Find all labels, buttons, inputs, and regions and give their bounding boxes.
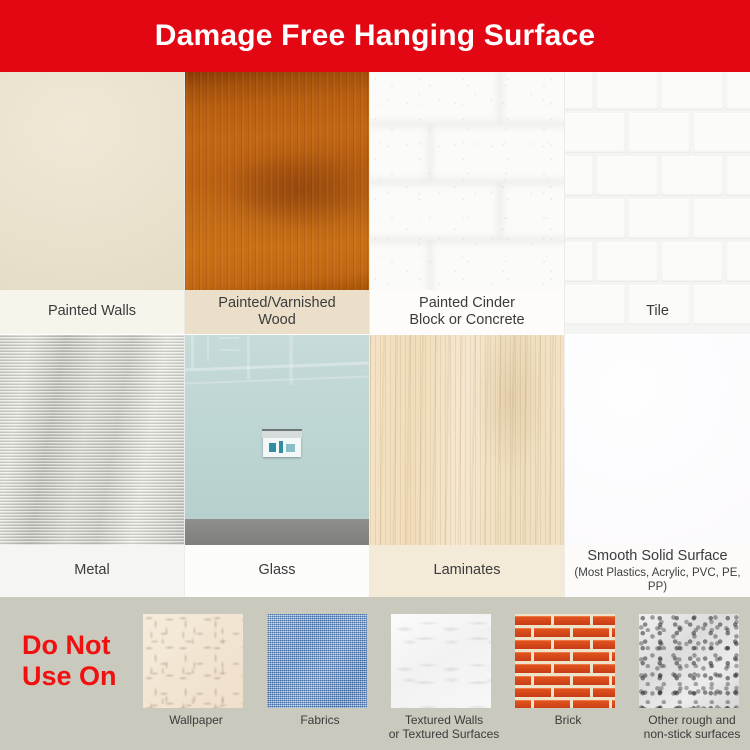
surface-label-glass: Glass bbox=[185, 545, 369, 597]
painted-wall-texture bbox=[0, 72, 184, 290]
infographic-root: Damage Free Hanging Surface Painted Wall… bbox=[0, 0, 750, 750]
surface-label-metal: Metal bbox=[0, 545, 184, 597]
surface-label-laminates: Laminates bbox=[370, 545, 564, 597]
surface-label-painted-walls: Painted Walls bbox=[0, 290, 184, 334]
label-subtext: (Most Plastics, Acrylic, PVC, PE, PP) bbox=[565, 567, 750, 594]
do-not-use-label-wallpaper: Wallpaper bbox=[125, 713, 267, 727]
label-text-line1: Painted/Varnished bbox=[218, 295, 335, 312]
label-text-line2: or Textured Surfaces bbox=[373, 727, 515, 741]
do-not-use-band: Do Not Use On Wallpaper Fabrics Textured… bbox=[0, 597, 750, 750]
do-not-use-label-brick: Brick bbox=[497, 713, 639, 727]
label-text-line1: Other rough and bbox=[621, 713, 750, 727]
approved-surfaces-grid: Painted Walls Painted/Varnished Wood bbox=[0, 72, 750, 597]
do-not-use-label-rough-surfaces: Other rough and non-stick surfaces bbox=[621, 713, 750, 742]
rough-surface-texture bbox=[639, 614, 739, 708]
do-not-use-title: Do Not Use On bbox=[22, 630, 162, 693]
brushed-metal-texture bbox=[0, 335, 184, 545]
oak-laminate-texture bbox=[370, 335, 564, 545]
page-title: Damage Free Hanging Surface bbox=[155, 19, 596, 53]
smooth-solid-texture bbox=[565, 335, 750, 545]
surface-label-cinder-block: Painted Cinder Block or Concrete bbox=[370, 290, 564, 334]
label-text-line1: Wallpaper bbox=[125, 713, 267, 727]
label-text-line1: Brick bbox=[497, 713, 639, 727]
label-text: Metal bbox=[74, 562, 109, 579]
cinder-block-texture bbox=[370, 72, 564, 290]
surface-cell-metal: Metal bbox=[0, 335, 184, 597]
label-text-line1: Textured Walls bbox=[373, 713, 515, 727]
glass-panel-texture bbox=[185, 335, 369, 545]
label-text-line1: Fabrics bbox=[249, 713, 391, 727]
textured-wall-texture bbox=[391, 614, 491, 708]
surface-cell-tile: Tile bbox=[565, 72, 750, 334]
surface-cell-cinder-block: Painted Cinder Block or Concrete bbox=[370, 72, 564, 334]
label-text-line2: non-stick surfaces bbox=[621, 727, 750, 741]
do-not-use-title-line1: Do Not bbox=[22, 630, 162, 661]
label-text-line2: Wood bbox=[258, 312, 296, 329]
label-text-line2: Block or Concrete bbox=[409, 312, 524, 329]
surface-cell-wood: Painted/Varnished Wood bbox=[185, 72, 369, 334]
do-not-use-label-fabrics: Fabrics bbox=[249, 713, 391, 727]
wallpaper-texture bbox=[143, 614, 243, 708]
label-text: Glass bbox=[258, 562, 295, 579]
label-text: Painted Walls bbox=[48, 303, 136, 320]
label-text: Tile bbox=[646, 303, 669, 320]
brick-texture bbox=[515, 614, 615, 708]
label-text: Laminates bbox=[434, 562, 501, 579]
header-banner: Damage Free Hanging Surface bbox=[0, 0, 750, 72]
varnished-wood-texture bbox=[185, 72, 369, 290]
fabric-texture bbox=[267, 614, 367, 708]
surface-label-tile: Tile bbox=[565, 290, 750, 334]
surface-label-wood: Painted/Varnished Wood bbox=[185, 290, 369, 334]
label-text-line1: Painted Cinder bbox=[419, 295, 515, 312]
label-text: Smooth Solid Surface bbox=[587, 548, 727, 565]
surface-cell-laminates: Laminates bbox=[370, 335, 564, 597]
surface-cell-glass: Glass bbox=[185, 335, 369, 597]
do-not-use-label-textured-walls: Textured Walls or Textured Surfaces bbox=[373, 713, 515, 742]
do-not-use-title-line2: Use On bbox=[22, 661, 162, 692]
surface-cell-painted-walls: Painted Walls bbox=[0, 72, 184, 334]
surface-cell-smooth-solid: Smooth Solid Surface (Most Plastics, Acr… bbox=[565, 335, 750, 597]
surface-label-smooth-solid: Smooth Solid Surface (Most Plastics, Acr… bbox=[565, 545, 750, 597]
